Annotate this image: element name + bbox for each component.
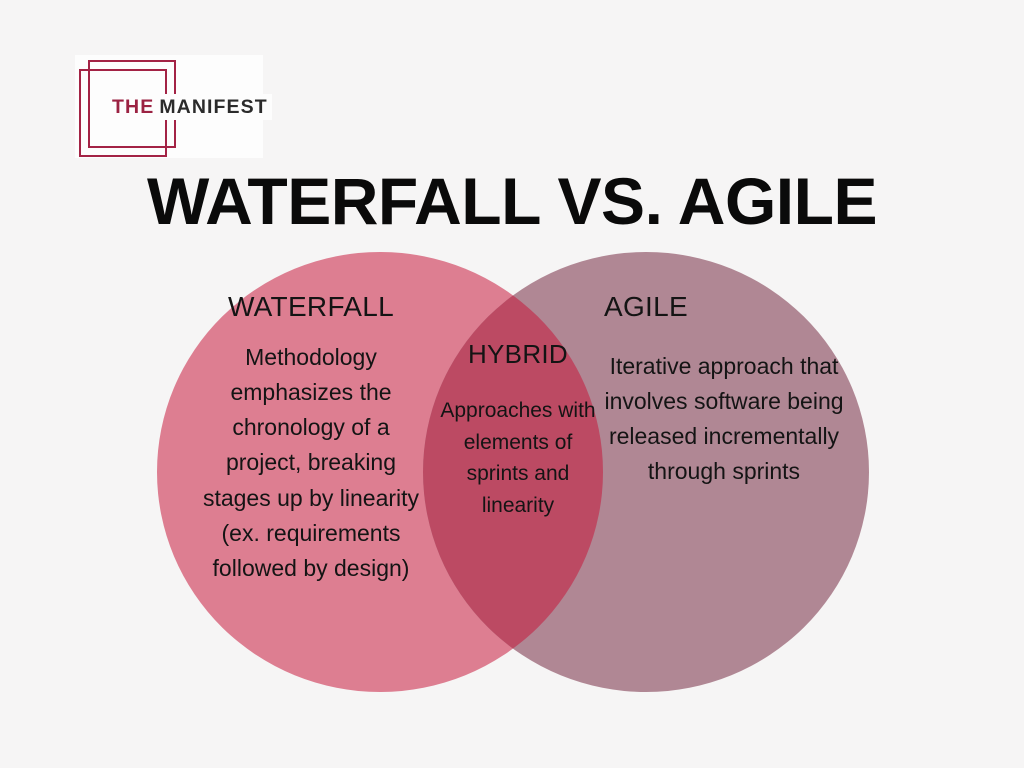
slide-canvas: THE MANIFEST WATERFALL VS. AGILE WATERFA… [0, 0, 1024, 768]
venn-diagram [0, 0, 1024, 768]
